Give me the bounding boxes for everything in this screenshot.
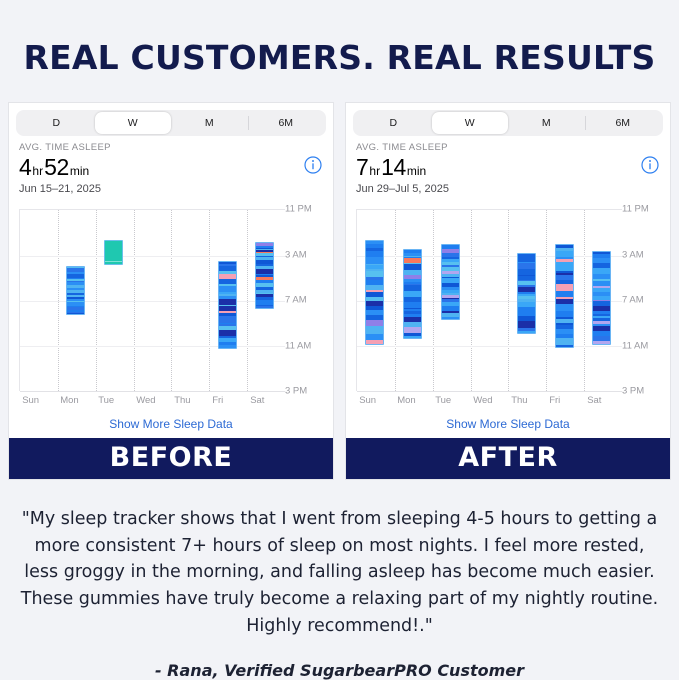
chart-gridline-horizontal (357, 256, 622, 257)
sleep-bar-mon (403, 249, 422, 340)
sleep-stage-band (556, 284, 573, 291)
stat-hours: 4 (19, 154, 31, 180)
seg-option-m[interactable]: M (508, 112, 585, 134)
sleep-bar-sat (592, 251, 611, 345)
comparison-cards: D W M 6M AVG. TIME ASLEEP 4hr52min Jun 1… (0, 76, 679, 480)
show-more-sleep-data-link[interactable]: Show More Sleep Data (346, 413, 670, 438)
seg-option-d[interactable]: D (355, 112, 432, 134)
chart-y-tick-label: 11 AM (622, 340, 648, 351)
stat-value: 7hr14min (356, 154, 660, 181)
segmented-control-after[interactable]: D W M 6M (353, 110, 663, 136)
chart-x-tick-label: Sat (587, 395, 601, 406)
stat-minutes: 14 (381, 154, 406, 180)
sleep-chart-before: 11 PM3 AM7 AM11 AM3 PM SunMonTueWedThuFr… (9, 203, 333, 413)
show-more-sleep-data-link[interactable]: Show More Sleep Data (9, 413, 333, 438)
sleep-stage-band (219, 345, 236, 349)
seg-option-d[interactable]: D (18, 112, 95, 134)
stat-date-range: Jun 29–Jul 5, 2025 (356, 183, 660, 195)
chart-x-axis: SunMonTueWedThuFriSat (356, 395, 622, 411)
stat-header-after: AVG. TIME ASLEEP 7hr14min Jun 29–Jul 5, … (346, 136, 670, 195)
sleep-stage-band (366, 340, 383, 344)
sleep-bar-tue (441, 244, 460, 320)
seg-option-w[interactable]: W (432, 112, 509, 134)
chart-gridline-horizontal (20, 301, 285, 302)
sleep-stage-band (67, 313, 84, 314)
sleep-stage-band (556, 262, 573, 269)
stat-hours-unit: hr (31, 164, 44, 178)
chart-x-tick-label: Sun (359, 395, 376, 406)
chart-x-tick-label: Sat (250, 395, 264, 406)
seg-option-w[interactable]: W (95, 112, 172, 134)
sleep-bar-tue (104, 240, 123, 265)
sleep-bar-sun (365, 240, 384, 345)
before-card: D W M 6M AVG. TIME ASLEEP 4hr52min Jun 1… (8, 102, 334, 480)
chart-y-tick-label: 7 AM (285, 295, 307, 306)
chart-x-tick-label: Wed (136, 395, 155, 406)
info-circle-icon[interactable] (304, 156, 322, 174)
stat-header-before: AVG. TIME ASLEEP 4hr52min Jun 15–21, 202… (9, 136, 333, 195)
chart-gridline-horizontal (357, 391, 622, 392)
chart-plot-area (19, 209, 285, 391)
chart-x-axis: SunMonTueWedThuFriSat (19, 395, 285, 411)
chart-gridline-horizontal (20, 391, 285, 392)
after-banner: AFTER (346, 438, 670, 479)
stat-value: 4hr52min (19, 154, 323, 181)
chart-x-tick-label: Tue (98, 395, 114, 406)
sleep-stage-band (556, 345, 573, 348)
stat-hours: 7 (356, 154, 368, 180)
chart-x-tick-label: Wed (473, 395, 492, 406)
chart-y-tick-label: 3 PM (622, 386, 644, 397)
page-title: REAL CUSTOMERS. REAL RESULTS (0, 0, 679, 76)
chart-y-axis: 11 PM3 AM7 AM11 AM3 PM (622, 209, 666, 391)
testimonial-quote: "My sleep tracker shows that I went from… (0, 480, 679, 639)
chart-y-axis: 11 PM3 AM7 AM11 AM3 PM (285, 209, 329, 391)
stat-label: AVG. TIME ASLEEP (19, 142, 323, 153)
stat-hours-unit: hr (368, 164, 381, 178)
testimonial-attribution: - Rana, Verified SugarbearPRO Customer (0, 661, 679, 680)
chart-y-tick-label: 11 PM (285, 204, 312, 215)
chart-y-tick-label: 3 AM (622, 249, 644, 260)
chart-x-tick-label: Thu (174, 395, 190, 406)
sleep-bar-fri (218, 261, 237, 349)
chart-x-tick-label: Fri (212, 395, 223, 406)
chart-gridline-horizontal (357, 301, 622, 302)
sleep-bar-thu (517, 253, 536, 333)
stat-label: AVG. TIME ASLEEP (356, 142, 660, 153)
chart-gridline-horizontal (357, 346, 622, 347)
sleep-bar-sat (255, 242, 274, 309)
seg-option-6m[interactable]: 6M (248, 112, 325, 134)
sleep-stage-band (105, 261, 122, 262)
chart-x-tick-label: Fri (549, 395, 560, 406)
promo-page: REAL CUSTOMERS. REAL RESULTS D W M 6M AV… (0, 0, 679, 679)
segmented-control-before[interactable]: D W M 6M (16, 110, 326, 136)
sleep-stage-band (593, 341, 610, 344)
after-card: D W M 6M AVG. TIME ASLEEP 7hr14min Jun 2… (345, 102, 671, 480)
chart-gridline-horizontal (20, 346, 285, 347)
chart-x-tick-label: Tue (435, 395, 451, 406)
chart-y-tick-label: 3 AM (285, 249, 307, 260)
sleep-stage-band (556, 304, 573, 311)
chart-x-tick-label: Mon (397, 395, 415, 406)
chart-y-tick-label: 11 PM (622, 204, 649, 215)
seg-option-m[interactable]: M (171, 112, 248, 134)
stat-date-range: Jun 15–21, 2025 (19, 183, 323, 195)
stat-minutes-unit: min (406, 164, 427, 178)
stat-minutes-unit: min (69, 164, 90, 178)
sleep-bar-mon (66, 266, 85, 316)
chart-x-tick-label: Sun (22, 395, 39, 406)
sleep-chart-after: 11 PM3 AM7 AM11 AM3 PM SunMonTueWedThuFr… (346, 203, 670, 413)
before-banner: BEFORE (9, 438, 333, 479)
stat-minutes: 52 (44, 154, 69, 180)
chart-x-tick-label: Thu (511, 395, 527, 406)
chart-y-tick-label: 3 PM (285, 386, 307, 397)
chart-plot-area (356, 209, 622, 391)
chart-gridline-horizontal (20, 256, 285, 257)
chart-y-tick-label: 11 AM (285, 340, 311, 351)
chart-y-tick-label: 7 AM (622, 295, 644, 306)
chart-x-tick-label: Mon (60, 395, 78, 406)
sleep-stage-band (256, 306, 273, 308)
seg-option-6m[interactable]: 6M (585, 112, 662, 134)
info-circle-icon[interactable] (641, 156, 659, 174)
sleep-stage-band (518, 331, 535, 333)
sleep-stage-band (404, 336, 421, 339)
sleep-bar-fri (555, 244, 574, 348)
